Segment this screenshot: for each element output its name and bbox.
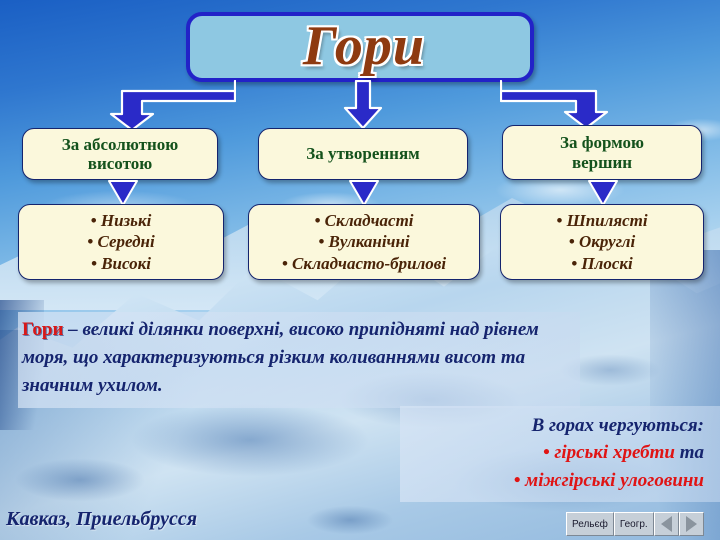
alternation-text: В горах чергуються: • гірські хребти та … bbox=[374, 412, 704, 494]
category-heading-peak-shape: За формою вершин bbox=[502, 125, 702, 180]
category-list-formation: • Складчасті • Вулканічні • Складчасто-б… bbox=[248, 204, 480, 280]
category-list-absolute-height: • Низькі • Середні • Високі bbox=[18, 204, 224, 280]
alternation-item-2: • міжгірські улоговини bbox=[374, 467, 704, 494]
category-list-items: • Шпилясті • Округлі • Плоскі bbox=[554, 210, 649, 274]
previous-slide-button[interactable] bbox=[654, 512, 679, 536]
category-heading-label: За утворенням bbox=[302, 144, 424, 163]
category-heading-label: За формою вершин bbox=[556, 133, 648, 171]
definition-body: – великі ділянки поверхні, високо припід… bbox=[22, 319, 539, 396]
connector-arrow-middle bbox=[342, 80, 384, 130]
connector-triangle-middle bbox=[347, 179, 381, 207]
category-list-peak-shape: • Шпилясті • Округлі • Плоскі bbox=[500, 204, 704, 280]
page-title: Гори bbox=[190, 14, 538, 78]
category-heading-formation: За утворенням bbox=[258, 128, 468, 180]
title-box: Гори bbox=[186, 12, 534, 82]
alternation-item-1-label: • гірські хребти bbox=[543, 442, 675, 463]
category-list-items: • Низькі • Середні • Високі bbox=[85, 210, 156, 274]
connector-triangle-right bbox=[586, 179, 620, 207]
slide: Гори За абсолютною висотою За утворенням… bbox=[0, 0, 720, 540]
category-heading-absolute-height: За абсолютною висотою bbox=[22, 128, 218, 180]
triangle-left-icon bbox=[661, 516, 672, 532]
connector-triangle-left bbox=[106, 179, 140, 207]
alternation-heading: В горах чергуються: bbox=[374, 412, 704, 439]
photo-caption: Кавказ, Приельбрусся bbox=[6, 508, 197, 531]
connector-arrow-left bbox=[108, 80, 236, 132]
definition-keyword: Гори bbox=[22, 319, 63, 340]
triangle-right-icon bbox=[686, 516, 697, 532]
connector-arrow-right bbox=[500, 80, 612, 130]
geography-button[interactable]: Геогр. bbox=[614, 512, 654, 536]
category-list-items: • Складчасті • Вулканічні • Складчасто-б… bbox=[280, 210, 448, 274]
next-slide-button[interactable] bbox=[679, 512, 704, 536]
alternation-item-1: • гірські хребти та bbox=[374, 439, 704, 466]
definition-text: Гори – великі ділянки поверхні, високо п… bbox=[22, 316, 582, 400]
category-heading-label: За абсолютною висотою bbox=[58, 135, 183, 173]
navigation-toolbar: Рельєф Геогр. bbox=[566, 512, 704, 536]
relief-button[interactable]: Рельєф bbox=[566, 512, 614, 536]
alternation-item-1-suffix: та bbox=[675, 442, 704, 463]
